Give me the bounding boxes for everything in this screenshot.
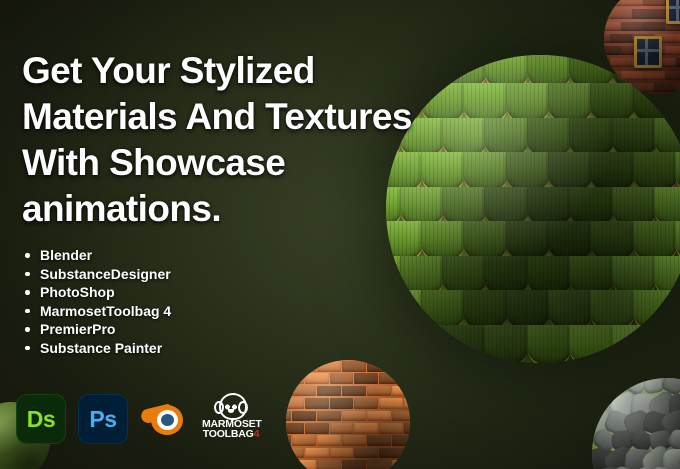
- blender-icon: [140, 395, 190, 443]
- photoshop-label: Ps: [89, 406, 116, 433]
- list-item: MarmosetToolbag 4: [22, 302, 171, 321]
- photoshop-icon: Ps: [78, 394, 128, 444]
- headline-line-1: Get Your Stylized: [22, 48, 492, 94]
- headline-line-4: animations.: [22, 186, 492, 232]
- list-item: Substance Painter: [22, 339, 171, 358]
- mossy-cobblestone-sphere-graphic: [592, 378, 680, 469]
- list-item: SubstanceDesigner: [22, 265, 171, 284]
- list-item: PremierPro: [22, 320, 171, 339]
- page-title: Get Your Stylized Materials And Textures…: [22, 48, 492, 232]
- substance-designer-icon: Ds: [16, 394, 66, 444]
- substance-designer-label: Ds: [27, 406, 55, 433]
- software-feature-list: Blender SubstanceDesigner PhotoShop Marm…: [22, 246, 171, 357]
- list-item: PhotoShop: [22, 283, 171, 302]
- list-item: Blender: [22, 246, 171, 265]
- software-logo-strip: Ds Ps MARMOSET TOOLBAG4: [16, 394, 260, 444]
- marmoset-toolbag-icon: MARMOSET TOOLBAG4: [202, 394, 260, 444]
- window-icon: [666, 0, 680, 24]
- orange-brick-sphere-graphic: [286, 360, 410, 469]
- marmoset-toolbag-word: TOOLBAG: [203, 428, 254, 440]
- blender-eye-shape: [161, 414, 174, 426]
- headline-line-2: Materials And Textures: [22, 94, 492, 140]
- marmoset-label-line-2: TOOLBAG4: [202, 429, 260, 440]
- promo-banner: Get Your Stylized Materials And Textures…: [0, 0, 680, 469]
- headline-line-3: With Showcase: [22, 140, 492, 186]
- marmoset-eyes-shape: [223, 403, 239, 411]
- marmoset-version-number: 4: [254, 428, 260, 440]
